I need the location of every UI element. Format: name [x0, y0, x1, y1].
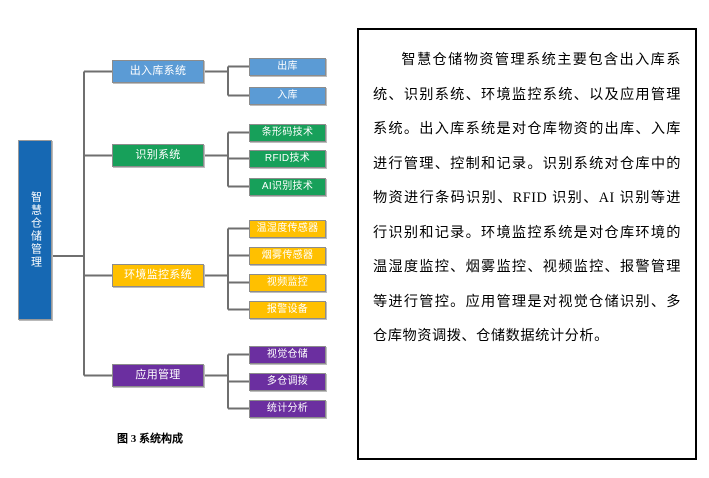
node-label: RFID技术: [265, 153, 310, 165]
description-paragraph: 智慧仓储物资管理系统主要包含出入库系统、识别系统、环境监控系统、以及应用管理系统…: [373, 43, 681, 354]
node-leaf-visual-storage[interactable]: 视觉仓储: [249, 346, 326, 364]
node-leaf-alarm-device[interactable]: 报警设备: [249, 301, 326, 319]
node-label: 报警设备: [267, 304, 308, 316]
node-leaf-statistical-analysis[interactable]: 统计分析: [249, 400, 326, 418]
node-branch-recognition[interactable]: 识别系统: [112, 144, 204, 167]
node-label: 出库: [277, 61, 298, 73]
node-label: 视觉仓储: [267, 349, 308, 361]
node-leaf-temp-humidity-sensor[interactable]: 温湿度传感器: [249, 220, 326, 238]
node-branch-application-management[interactable]: 应用管理: [112, 364, 204, 387]
node-label: 环境监控系统: [124, 269, 192, 282]
node-label: AI识别技术: [262, 181, 313, 193]
node-label: 视频监控: [267, 277, 308, 289]
node-label: 多仓调拨: [267, 376, 308, 388]
node-label: 入库: [277, 90, 298, 102]
node-leaf-barcode-tech[interactable]: 条形码技术: [249, 124, 326, 142]
node-label: 识别系统: [135, 149, 180, 162]
node-branch-inbound-outbound[interactable]: 出入库系统: [112, 60, 204, 83]
node-leaf-multi-warehouse-transfer[interactable]: 多仓调拨: [249, 373, 326, 391]
description-text-panel: 智慧仓储物资管理系统主要包含出入库系统、识别系统、环境监控系统、以及应用管理系统…: [357, 28, 697, 460]
node-branch-environment-monitoring[interactable]: 环境监控系统: [112, 264, 204, 287]
node-leaf-smoke-sensor[interactable]: 烟雾传感器: [249, 247, 326, 265]
node-leaf-video-surveillance[interactable]: 视频监控: [249, 274, 326, 292]
figure-caption: 图 3 系统构成: [0, 430, 300, 446]
node-root-label: 智慧仓储管理: [30, 191, 41, 269]
node-leaf-outbound[interactable]: 出库: [249, 58, 326, 76]
node-leaf-rfid-tech[interactable]: RFID技术: [249, 150, 326, 168]
node-root[interactable]: 智慧仓储管理: [18, 140, 52, 320]
system-architecture-diagram: 智慧仓储管理 出入库系统 识别系统 环境监控系统 应用管理 出库 入库 条形码技…: [0, 0, 355, 478]
node-label: 出入库系统: [130, 65, 187, 78]
node-label: 温湿度传感器: [257, 223, 319, 235]
node-label: 应用管理: [135, 369, 180, 382]
node-label: 烟雾传感器: [262, 250, 314, 262]
node-label: 统计分析: [267, 403, 308, 415]
node-leaf-inbound[interactable]: 入库: [249, 87, 326, 105]
node-label: 条形码技术: [262, 127, 314, 139]
node-leaf-ai-recognition-tech[interactable]: AI识别技术: [249, 178, 326, 196]
